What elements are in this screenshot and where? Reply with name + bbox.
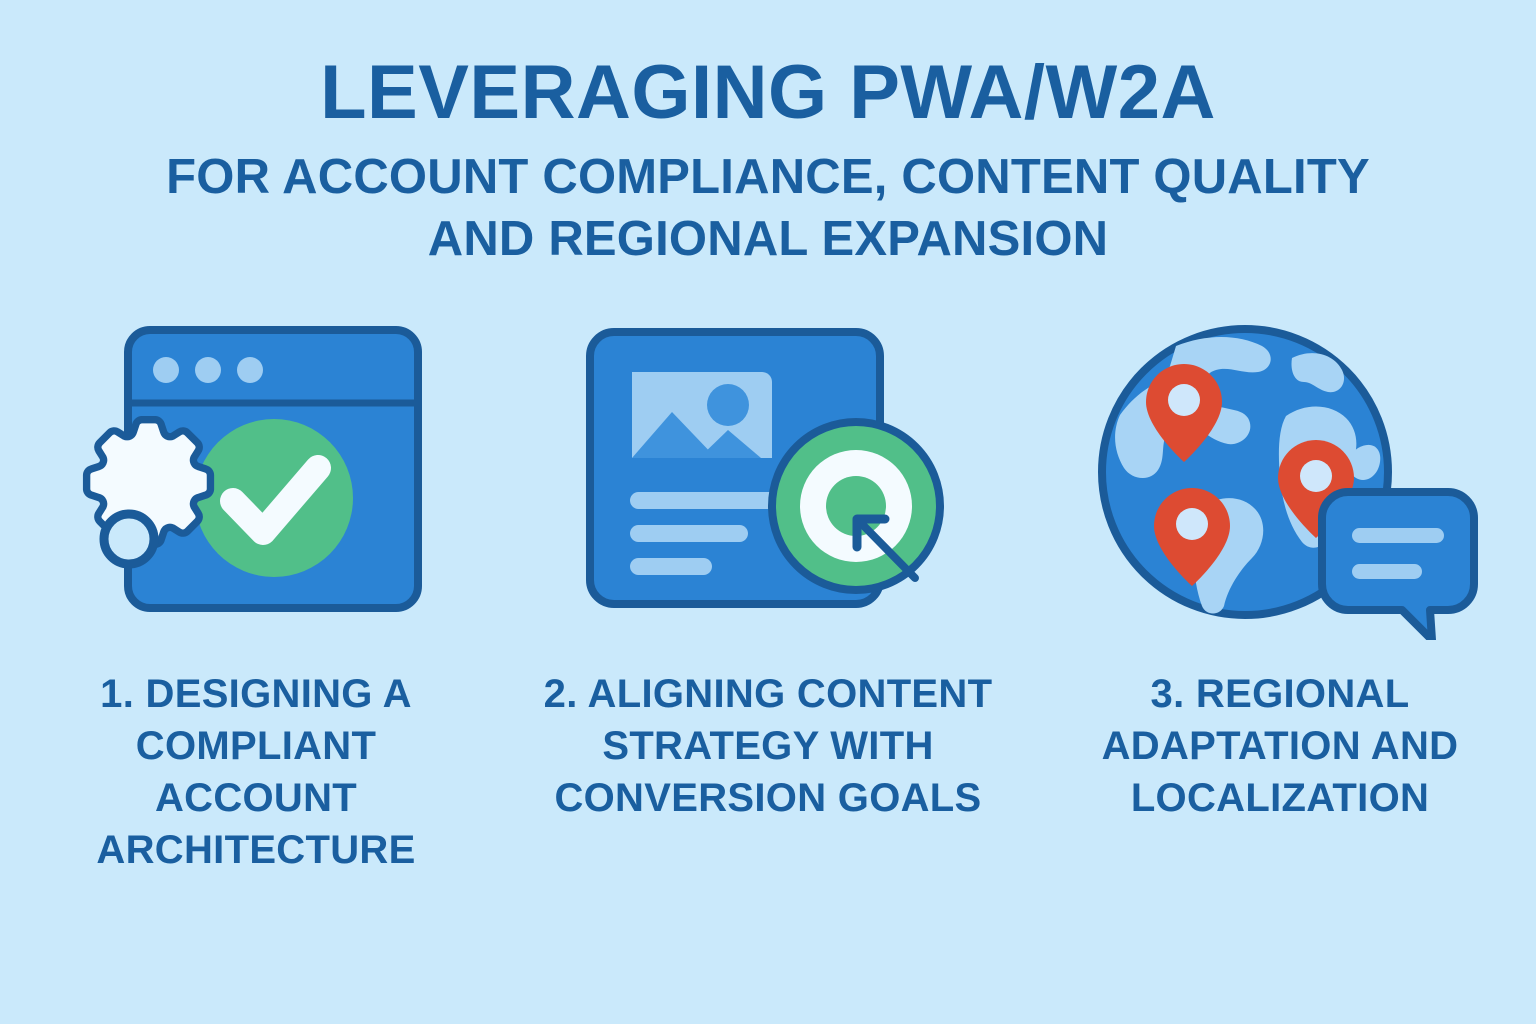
- bubble-line-2: [1352, 564, 1422, 579]
- browser-window-check-gear-icon: [56, 320, 456, 640]
- step-1-caption: 1. DESIGNING A COMPLIANT ACCOUNT ARCHITE…: [41, 668, 471, 876]
- bubble-line-1: [1352, 528, 1444, 543]
- step-2-caption: 2. ALIGNING CONTENT STRATEGY WITH CONVER…: [533, 668, 1003, 824]
- step-3-caption: 3. REGIONAL ADAPTATION AND LOCALIZATION: [1055, 668, 1505, 824]
- content-card-target-icon: [568, 320, 968, 640]
- header: LEVERAGING PWA/W2A FOR ACCOUNT COMPLIANC…: [0, 54, 1536, 271]
- step-3-icon-wrap: [1080, 320, 1480, 640]
- speech-bubble-icon: [1322, 492, 1474, 640]
- window-dots: [153, 357, 263, 383]
- step-1-icon-wrap: [56, 320, 456, 640]
- page-title: LEVERAGING PWA/W2A: [0, 54, 1536, 132]
- steps-row: 1. DESIGNING A COMPLIANT ACCOUNT ARCHITE…: [0, 320, 1536, 876]
- step-2-icon-wrap: [568, 320, 968, 640]
- page-subtitle-line-2: AND REGIONAL EXPANSION: [0, 208, 1536, 271]
- infographic-poster: LEVERAGING PWA/W2A FOR ACCOUNT COMPLIANC…: [0, 0, 1536, 1024]
- green-check-circle: [195, 419, 353, 577]
- page-subtitle-line-1: FOR ACCOUNT COMPLIANCE, CONTENT QUALITY: [0, 146, 1536, 209]
- step-3: 3. REGIONAL ADAPTATION AND LOCALIZATION: [1024, 320, 1536, 824]
- step-2: 2. ALIGNING CONTENT STRATEGY WITH CONVER…: [512, 320, 1024, 824]
- image-placeholder-icon: [632, 372, 772, 458]
- sun-circle: [707, 384, 749, 426]
- page-subtitle: FOR ACCOUNT COMPLIANCE, CONTENT QUALITY …: [0, 146, 1536, 271]
- green-target-icon: [772, 422, 940, 590]
- globe-pins-speech-bubble-icon: [1080, 320, 1480, 640]
- step-1: 1. DESIGNING A COMPLIANT ACCOUNT ARCHITE…: [0, 320, 512, 876]
